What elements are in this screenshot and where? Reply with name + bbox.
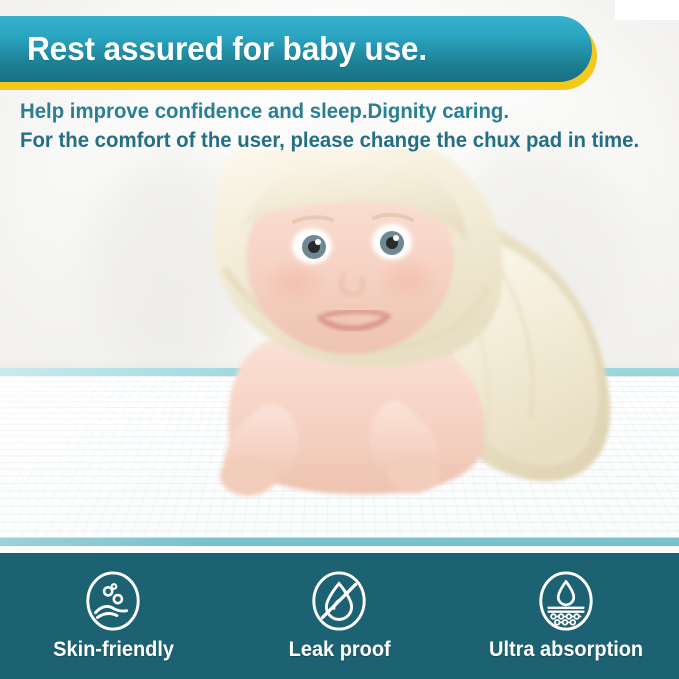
header-banner-fill: Rest assured for baby use. xyxy=(0,16,592,82)
skin-friendly-icon xyxy=(82,570,144,632)
feature-leak-proof: Leak proof xyxy=(226,570,452,662)
feature-skin-friendly: Skin-friendly xyxy=(0,570,226,662)
feature-label: Leak proof xyxy=(288,638,390,662)
subtitle-line-2: For the comfort of the user, please chan… xyxy=(20,127,639,156)
feature-label: Skin-friendly xyxy=(53,638,174,662)
leak-proof-icon xyxy=(308,570,370,632)
corner-white-patch xyxy=(615,0,679,20)
subtitle-line-1: Help improve confidence and sleep.Dignit… xyxy=(20,98,639,127)
page-title: Rest assured for baby use. xyxy=(27,30,427,68)
feature-bar: Skin-friendly Leak proof xyxy=(0,553,679,679)
feature-label: Ultra absorption xyxy=(489,638,643,662)
baby-figure xyxy=(0,150,679,550)
feature-ultra-absorption: Ultra absorption xyxy=(453,570,679,662)
ultra-absorption-icon xyxy=(535,570,597,632)
subtitle-block: Help improve confidence and sleep.Dignit… xyxy=(20,98,658,155)
product-feature-image: Rest assured for baby use. Help improve … xyxy=(0,0,679,679)
header-banner: Rest assured for baby use. xyxy=(0,16,597,84)
feature-bar-seam xyxy=(0,546,679,553)
